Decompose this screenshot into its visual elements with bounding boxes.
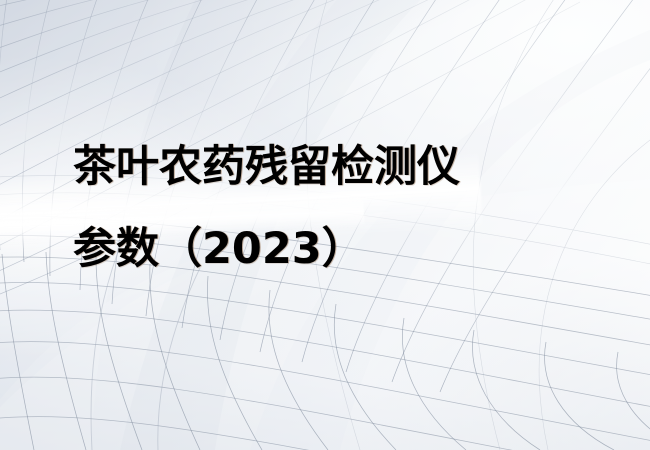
page-title: 茶叶农药残留检测仪 参数（2023） xyxy=(73,126,613,290)
title-banner: 茶叶农药残留检测仪 参数（2023） xyxy=(0,0,650,450)
title-line-2: 参数（2023） xyxy=(73,208,613,290)
title-line-1: 茶叶农药残留检测仪 xyxy=(73,126,613,208)
